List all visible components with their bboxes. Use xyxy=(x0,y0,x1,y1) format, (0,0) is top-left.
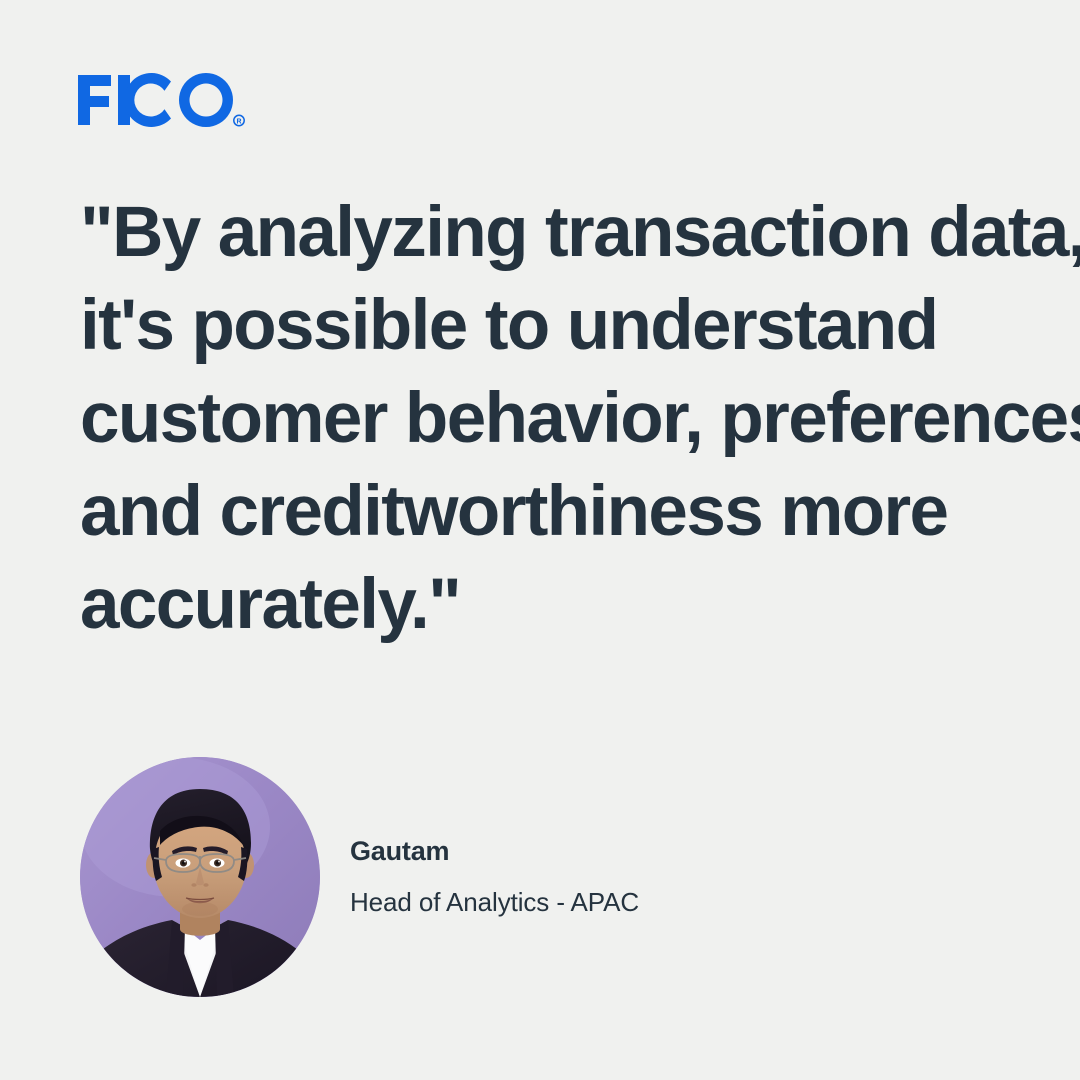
avatar xyxy=(80,757,320,997)
registered-trademark-icon: R xyxy=(234,115,244,125)
person-info: Gautam Head of Analytics - APAC xyxy=(350,833,770,920)
svg-text:R: R xyxy=(236,118,241,125)
attribution-block: Gautam Head of Analytics - APAC xyxy=(80,757,780,1007)
quote-text: "By analyzing transaction data, it's pos… xyxy=(80,186,1040,651)
quote-line-3: customer behavior, preferences, xyxy=(80,372,1040,465)
fico-logo-glyphs: R xyxy=(78,70,248,130)
fico-logo: R xyxy=(78,70,248,130)
quote-line-4: and creditworthiness more xyxy=(80,465,1040,558)
quote-line-1: "By analyzing transaction data, xyxy=(80,186,1040,279)
quote-card: R "By analyzing transaction data, it's p… xyxy=(0,0,1080,1080)
person-name: Gautam xyxy=(350,833,770,869)
person-role: Head of Analytics - APAC xyxy=(350,884,770,920)
avatar-photo-gautam xyxy=(80,757,320,997)
quote-line-5: accurately." xyxy=(80,558,1040,651)
quote-line-2: it's possible to understand xyxy=(80,279,1040,372)
